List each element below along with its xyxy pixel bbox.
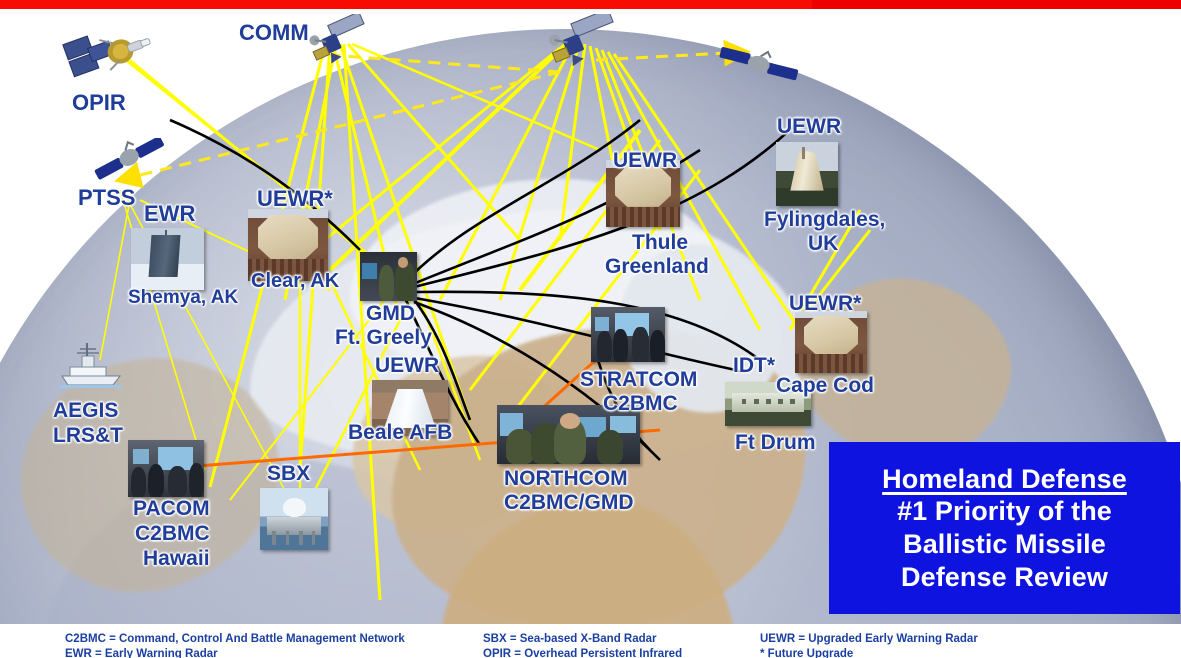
label-opir: OPIR [72,91,126,115]
label-gmd: GMD [366,303,415,326]
slide-canvas: OPIR COMM PTSS EWR Shemya, AK UEWR* Clea… [0,0,1181,658]
label-sbx: SBX [267,463,310,486]
label-aegis: AEGIS [53,400,118,423]
label-shemya-ak: Shemya, AK [128,288,238,309]
label-uewr-thule: UEWR [613,150,677,173]
label-stratcom: STRATCOM [580,369,697,392]
pacom-c2bmc-photo [128,440,204,497]
label-stratcom-sub: C2BMC [603,393,678,416]
label-idt: IDT* [733,355,775,378]
legend-c2bmc: C2BMC = Command, Control And Battle Mana… [65,633,405,645]
label-beale-afb: Beale AFB [348,422,452,445]
label-lrst: LRS&T [53,425,123,448]
label-comm: COMM [239,21,309,45]
label-uk: UK [808,233,838,256]
label-ptss: PTSS [78,186,135,210]
yellow-sensor-beams [100,40,870,600]
label-greenland: Greenland [605,256,709,279]
label-uewr-fylingdales: UEWR [777,116,841,139]
legend-future-upgrade: * Future Upgrade [760,648,853,658]
gmd-ft-greely-photo [360,252,417,301]
homeland-defense-callout: Homeland Defense #1 Priority of the Ball… [829,442,1180,614]
label-fylingdales: Fylingdales, [764,209,885,232]
legend-uewr: UEWR = Upgraded Early Warning Radar [760,633,978,645]
stratcom-c2bmc-photo [591,307,665,362]
label-ft-drum: Ft Drum [735,432,816,455]
label-hawaii: Hawaii [143,548,210,571]
callout-line-2: #1 Priority of the [897,495,1112,528]
callout-line-3: Ballistic Missile [903,528,1106,561]
legend-sbx: SBX = Sea-based X-Band Radar [483,633,657,645]
acronym-legend: C2BMC = Command, Control And Battle Mana… [0,624,1181,658]
label-ewr: EWR [144,202,195,226]
label-uewr-beale: UEWR [375,355,439,378]
aegis-ship-icon [56,340,126,388]
ptss-satellite-icon [92,138,170,184]
uewr-fylingdales-photo [776,142,838,206]
label-clear-ak: Clear, AK [251,271,339,293]
callout-line-1: Homeland Defense [882,463,1127,496]
label-cape-cod: Cape Cod [776,375,874,398]
uewr-cape-cod-photo [795,311,867,373]
label-uewr-cape-cod: UEWR* [789,293,861,316]
label-northcom: NORTHCOM [504,468,628,491]
legend-ewr: EWR = Early Warning Radar [65,648,218,658]
ptss-satellite-right-icon [716,46,800,88]
label-uewr-clear: UEWR* [257,187,333,211]
comm-satellite-icon [305,14,375,68]
ewr-shemya-photo [131,228,204,290]
label-thule: Thule [632,232,688,255]
legend-opir: OPIR = Overhead Persistent Infrared [483,648,682,658]
label-ft-greely: Ft. Greely [335,327,432,350]
comm-satellite-2-icon [545,14,625,72]
label-northcom-sub: C2BMC/GMD [504,492,634,515]
callout-line-4: Defense Review [901,561,1108,594]
label-pacom: PACOM [133,498,210,521]
label-pacom-c2bmc: C2BMC [135,523,210,546]
sbx-photo [260,488,328,550]
opir-satellite-icon [55,16,161,94]
